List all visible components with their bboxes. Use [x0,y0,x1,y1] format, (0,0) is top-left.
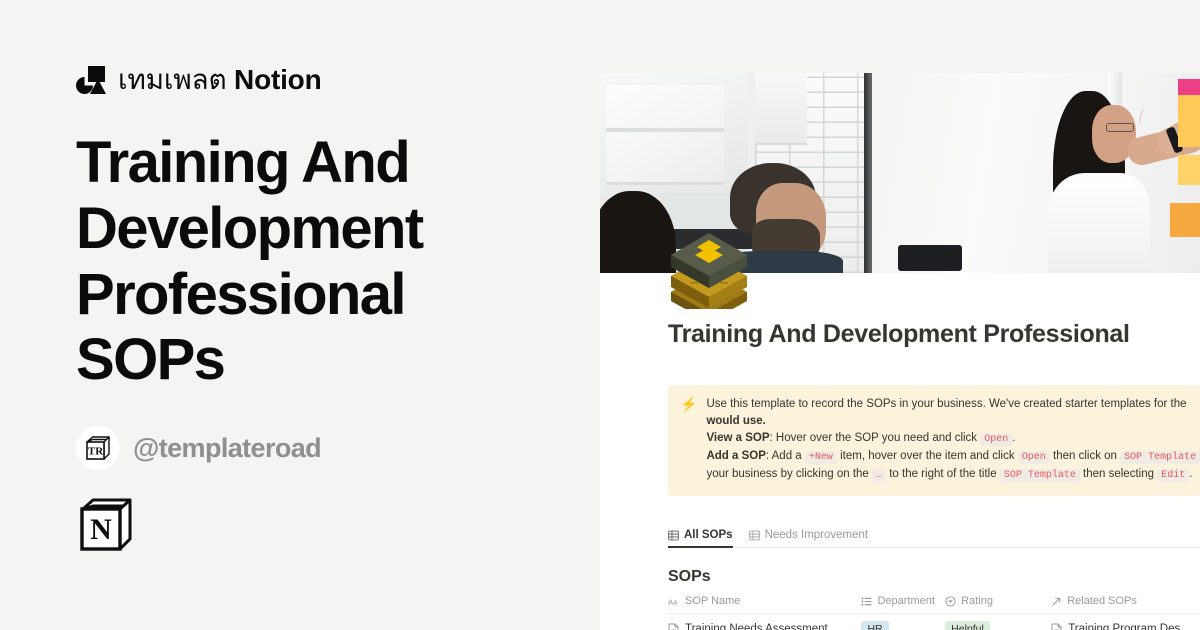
callout-line-4: your business by clicking on the … to th… [706,466,1200,484]
cell-sop-name[interactable]: Training Needs Assessment [668,623,861,630]
callout-line1b-text: would use. [706,415,765,427]
tab-all-sops[interactable]: All SOPs [668,529,733,548]
view-sop-text: : Hover over the SOP you need and click [770,432,981,444]
tr-box-avatar-icon: TR [83,433,113,463]
lightning-bolt-icon: ⚡ [680,396,697,484]
callout-line-1b: would use. [706,413,1200,430]
cell-related-sops-link[interactable]: Training Program Des [1068,623,1180,630]
code-sop-template: SOP Template [1120,451,1200,464]
cell-rating[interactable]: Helpful [945,621,1051,630]
svg-text:N: N [90,513,112,546]
brand-label: เทมเพลต Notion [118,58,321,102]
brand-row: เทมเพลต Notion [76,60,600,100]
shapes-logo-icon [76,65,106,95]
author-row[interactable]: TR @templateroad [76,426,600,470]
svg-text:Aa: Aa [668,597,678,606]
add-sop-text-c: then click on [1050,450,1120,462]
table-view-icon [749,530,760,541]
rating-badge: Helpful [945,621,990,630]
callout-line-1: Use this template to record the SOPs in … [706,396,1200,413]
database-view-tabs: All SOPs Needs Improvement [668,529,1200,548]
brand-product-word: Notion [234,64,321,95]
view-sop-label: View a SOP [706,432,769,444]
table-row[interactable]: Training Needs Assessment HR Helpful Tra… [668,614,1200,630]
callout-block: ⚡ Use this template to record the SOPs i… [668,385,1200,496]
sticky-note [1178,95,1200,147]
column-header-sop-name-label: SOP Name [685,595,740,607]
tab-all-sops-label: All SOPs [684,529,733,541]
cell-department[interactable]: HR [861,621,945,630]
column-header-related-sops-label: Related SOPs [1067,595,1137,607]
edit-text-c: then selecting [1080,468,1157,480]
column-header-related-sops[interactable]: Related SOPs [1051,595,1200,607]
page-title: Training And Development Professional SO… [76,130,506,393]
table-view-icon [668,530,679,541]
notion-cube-icon: N [76,495,136,555]
column-header-rating[interactable]: Rating [945,595,1051,607]
edit-text-b: to the right of the title [886,468,1000,480]
column-header-rating-label: Rating [961,595,993,607]
view-sop-period: . [1012,432,1015,444]
edit-period: . [1189,468,1192,480]
department-badge: HR [861,621,888,630]
tab-needs-improvement[interactable]: Needs Improvement [749,529,869,548]
promo-left-panel: เทมเพลต Notion Training And Development … [0,0,600,630]
callout-line-2: View a SOP: Hover over the SOP you need … [706,430,1200,448]
sticky-note [1178,79,1200,95]
code-open: Open [980,433,1012,446]
title-aa-icon: Aa [668,596,680,607]
author-handle: @templateroad [133,433,321,464]
multi-select-icon [861,596,872,607]
edit-text-a: your business by clicking on the [706,468,872,480]
cell-sop-name-link[interactable]: Training Needs Assessment [685,623,828,630]
callout-line1-text: Use this template to record the SOPs in … [706,398,1186,410]
column-header-sop-name[interactable]: Aa SOP Name [668,595,861,607]
table-header-row: Aa SOP Name Department [668,595,1200,614]
callout-text: Use this template to record the SOPs in … [706,396,1200,484]
brand-thai-word: เทมเพลต [118,64,234,95]
tab-needs-improvement-label: Needs Improvement [765,529,869,541]
isometric-layered-block-icon[interactable] [668,225,750,309]
select-icon [945,596,956,607]
notion-page-title: Training And Development Professional [668,320,1200,349]
cell-related-sops[interactable]: Training Program Des [1051,623,1200,630]
add-sop-text-a: : Add a [766,450,805,462]
callout-line-3: Add a SOP: Add a +New item, hover over t… [706,448,1200,466]
column-header-department-label: Department [877,595,934,607]
notion-page-preview: Training And Development Professional ⚡ … [600,73,1200,630]
add-sop-label: Add a SOP [706,450,765,462]
code-edit: Edit [1157,469,1189,482]
code-new: +New [805,451,837,464]
page-document-icon [668,623,679,630]
sticky-note [1170,203,1200,237]
database-title: SOPs [668,568,1200,586]
sops-table: Aa SOP Name Department [668,595,1200,630]
sticky-note [1178,155,1200,185]
avatar: TR [76,426,120,470]
code-sop-template-2: SOP Template [1000,469,1080,482]
relation-arrow-icon [1051,596,1062,607]
page-document-icon [1051,623,1062,630]
add-sop-text-b: item, hover over the item and click [837,450,1018,462]
code-ellipsis: … [872,469,886,482]
column-header-department[interactable]: Department [861,595,945,607]
code-open-2: Open [1018,451,1050,464]
svg-text:TR: TR [88,446,104,458]
